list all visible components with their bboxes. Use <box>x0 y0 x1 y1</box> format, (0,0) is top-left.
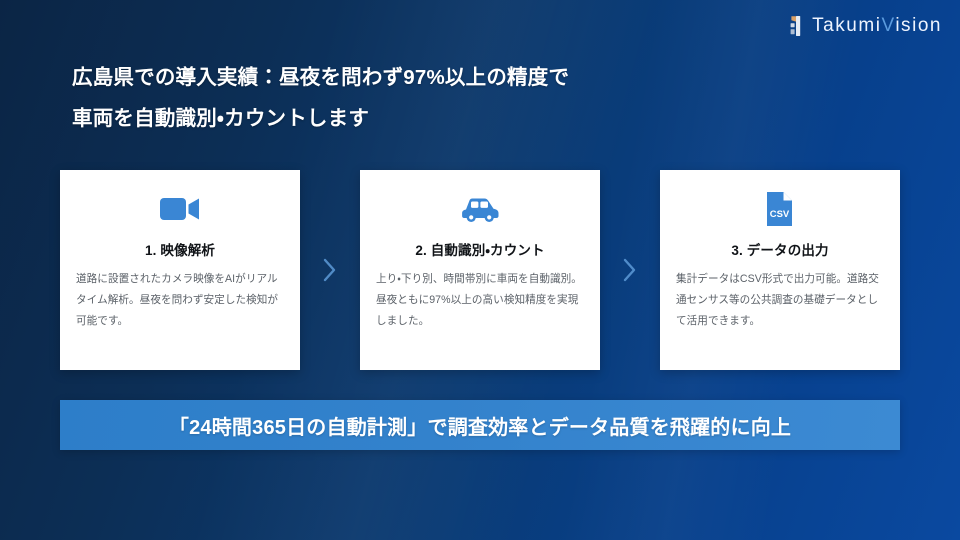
video-camera-icon <box>159 188 201 230</box>
step-card-body: 道路に設置されたカメラ映像をAIがリアルタイム解析。昼夜を問わず安定した検知が可… <box>76 269 284 333</box>
step-card-body: 集計データはCSV形式で出力可能。道路交通センサス等の公共調査の基礎データとして… <box>676 269 884 333</box>
step-card-1[interactable]: 1. 映像解析 道路に設置されたカメラ映像をAIがリアルタイム解析。昼夜を問わず… <box>60 170 300 370</box>
step-card-title: 3. データの出力 <box>731 239 828 259</box>
chevron-right-icon <box>322 257 338 283</box>
csv-file-icon: CSV <box>765 188 795 230</box>
step-card-body: 上り・下り別、時間帯別に車両を自動識別。昼夜ともに97%以上の高い検知精度を実現… <box>376 269 584 333</box>
step-card-2[interactable]: 2. 自動識別・カウント 上り・下り別、時間帯別に車両を自動識別。昼夜ともに97… <box>360 170 600 370</box>
step-card-3[interactable]: CSV 3. データの出力 集計データはCSV形式で出力可能。道路交通センサス等… <box>660 170 900 370</box>
brand-logo: TakumiVision <box>789 13 942 39</box>
step-separator-1 <box>300 170 360 370</box>
headline-line-1: 広島県での導入実績：昼夜を問わず97%以上の精度で <box>72 66 569 89</box>
step-card-title: 2. 自動識別・カウント <box>415 239 544 259</box>
chevron-right-icon <box>622 257 638 283</box>
takumi-chisel-icon <box>789 14 807 38</box>
step-card-title: 1. 映像解析 <box>145 239 215 259</box>
svg-text:CSV: CSV <box>770 209 790 220</box>
brand-name: TakumiVision <box>812 15 942 37</box>
car-icon <box>459 188 501 230</box>
headline: 広島県での導入実績：昼夜を問わず97%以上の精度で 車両を自動識別・カウントしま… <box>72 57 712 139</box>
brand-name-secondary-rest: ision <box>895 15 942 36</box>
brand-name-primary: Takumi <box>812 15 881 36</box>
brand-name-secondary-initial: V <box>881 15 895 36</box>
step-cards: 1. 映像解析 道路に設置されたカメラ映像をAIがリアルタイム解析。昼夜を問わず… <box>60 170 900 370</box>
slide-root: TakumiVision 広島県での導入実績：昼夜を問わず97%以上の精度で 車… <box>0 0 960 540</box>
summary-banner-text: 「24時間365日の自動計測」で調査効率とデータ品質を飛躍的に向上 <box>169 411 791 440</box>
summary-banner: 「24時間365日の自動計測」で調査効率とデータ品質を飛躍的に向上 <box>60 400 900 450</box>
headline-line-2: 車両を自動識別・カウントします <box>72 98 712 139</box>
step-separator-2 <box>600 170 660 370</box>
